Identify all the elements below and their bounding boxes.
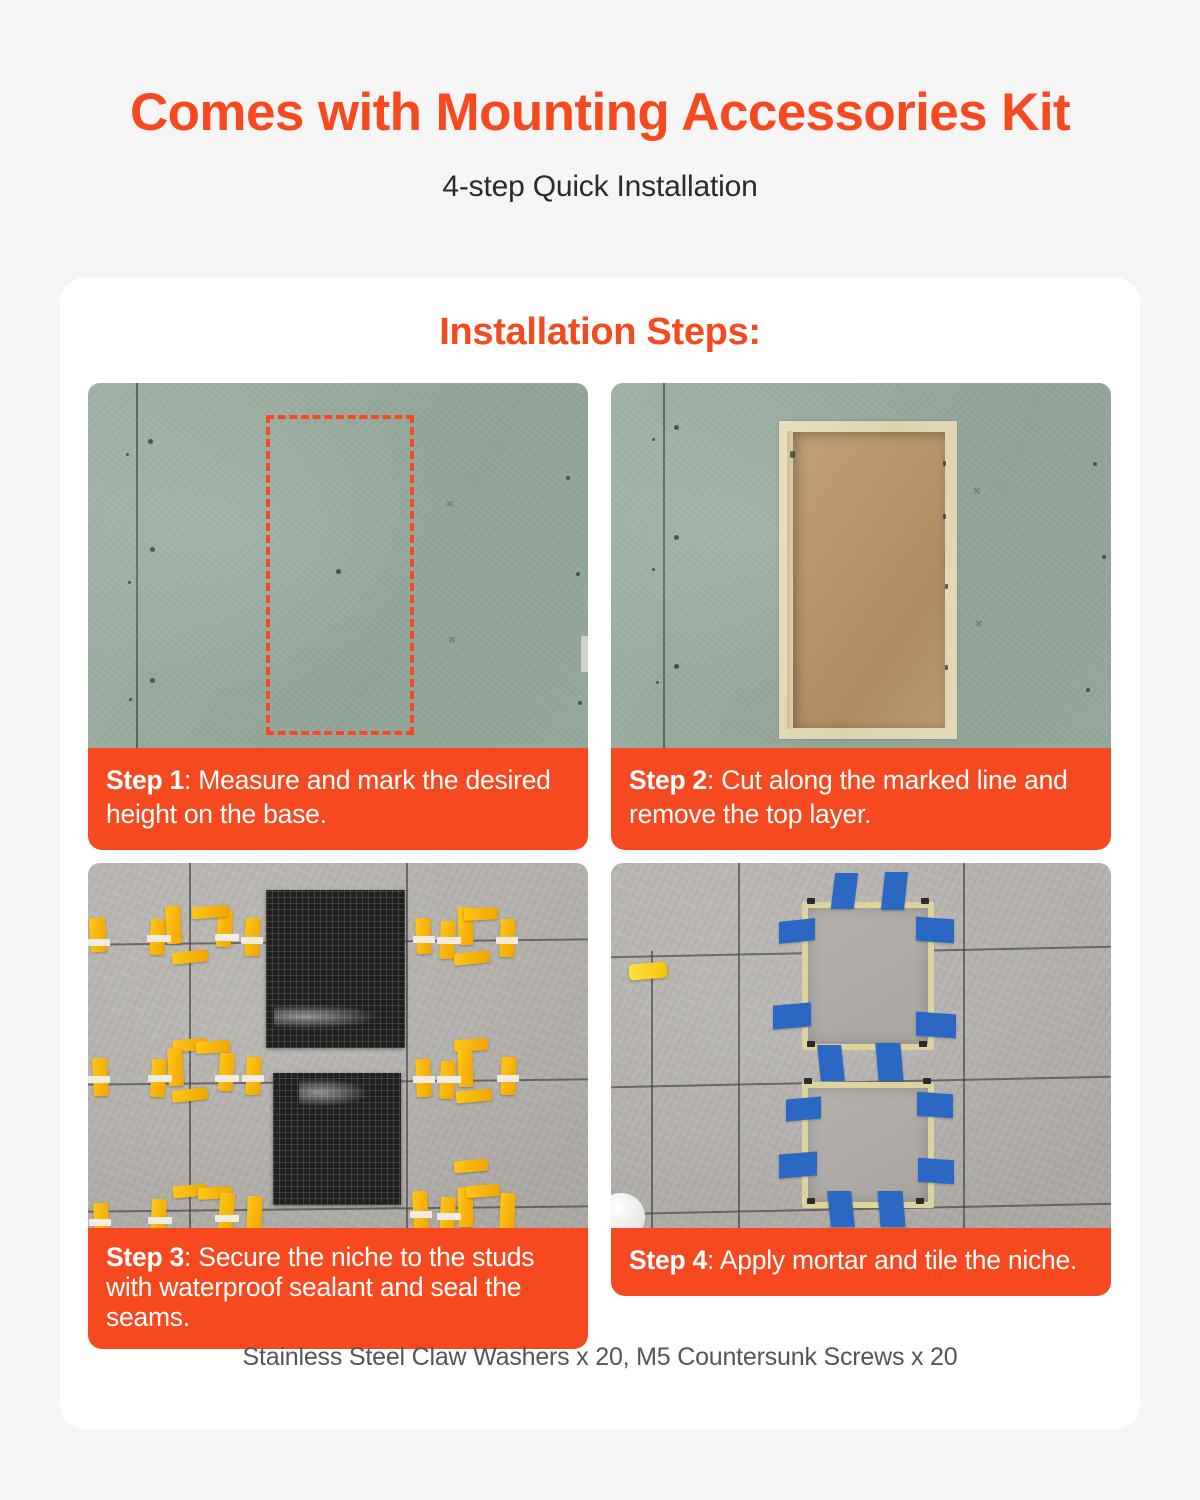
painters-tape-strip bbox=[779, 918, 815, 944]
step-3-photo bbox=[88, 863, 588, 1243]
niche-corner-bracket bbox=[923, 1078, 931, 1084]
screw-head-icon bbox=[1093, 462, 1097, 466]
screw-head-icon bbox=[566, 476, 570, 480]
tile-leveling-clip bbox=[437, 1076, 461, 1083]
screw-head-icon bbox=[945, 584, 948, 589]
measurement-marking-outline bbox=[266, 415, 414, 735]
screw-head-icon bbox=[148, 439, 153, 444]
painters-tape-strip bbox=[827, 1191, 855, 1227]
tile-leveling-wedge bbox=[89, 917, 107, 952]
tile-leveling-clip bbox=[148, 1217, 172, 1224]
tile-leveling-clip bbox=[437, 1213, 461, 1220]
tile-leveling-wedge bbox=[466, 1184, 501, 1198]
niche-corner-bracket bbox=[804, 1078, 812, 1084]
niche-corner-bracket bbox=[919, 1041, 927, 1047]
steps-grid: × × Step 1: Measure and mark the desired… bbox=[88, 383, 1112, 1338]
screw-head-icon bbox=[656, 681, 659, 684]
painters-tape-strip bbox=[779, 1151, 817, 1178]
screw-head-icon bbox=[674, 664, 679, 669]
tile-leveling-wedge bbox=[192, 905, 229, 919]
accessories-note: Stainless Steel Claw Washers x 20, M5 Co… bbox=[60, 1343, 1140, 1372]
step-tile-2: × × Step 2: Cut along the marked line an… bbox=[611, 383, 1111, 858]
tile-leveling-clip bbox=[437, 937, 461, 944]
painters-tape-strip bbox=[916, 1012, 956, 1039]
step-2-caption: Step 2: Cut along the marked line and re… bbox=[611, 748, 1111, 850]
tile-leveling-clip bbox=[497, 1075, 519, 1082]
step-1-caption: Step 1: Measure and mark the desired hei… bbox=[88, 748, 588, 850]
painters-tape-strip bbox=[877, 1191, 905, 1227]
drywall-seam bbox=[136, 383, 138, 763]
screw-head-icon bbox=[1102, 555, 1106, 559]
painters-tape-strip bbox=[831, 873, 858, 909]
niche-corner-bracket bbox=[921, 898, 929, 904]
header: Comes with Mounting Accessories Kit 4-st… bbox=[0, 0, 1200, 204]
tile-leveling-clip bbox=[241, 937, 263, 944]
step-1-label: Step 1 bbox=[106, 765, 184, 795]
grout-line bbox=[406, 863, 408, 1243]
tile-leveling-wedge bbox=[464, 907, 499, 921]
step-4-photo bbox=[611, 863, 1111, 1243]
step-3-caption: Step 3: Secure the niche to the studs wi… bbox=[88, 1228, 588, 1349]
pencil-mark-x-icon: × bbox=[446, 496, 454, 511]
product-infographic-page: Comes with Mounting Accessories Kit 4-st… bbox=[0, 0, 1200, 1500]
tile-leveling-clip bbox=[88, 1076, 110, 1083]
screw-head-icon bbox=[945, 665, 948, 670]
screw-head-icon bbox=[128, 581, 131, 584]
pencil-mark-x-icon: × bbox=[448, 632, 456, 647]
step-4-label: Step 4 bbox=[629, 1245, 707, 1275]
step-tile-3: Step 3: Secure the niche to the studs wi… bbox=[88, 863, 588, 1338]
tile-leveling-clip bbox=[88, 939, 110, 946]
painters-tape-strip bbox=[817, 1045, 845, 1081]
step-tile-1: × × Step 1: Measure and mark the desired… bbox=[88, 383, 588, 858]
screw-head-icon bbox=[150, 678, 155, 683]
painters-tape-strip bbox=[875, 1043, 903, 1081]
niche-corner-bracket bbox=[916, 1198, 924, 1204]
screw-head-icon bbox=[943, 461, 946, 466]
tile-leveling-clip bbox=[215, 934, 239, 941]
painters-tape-strip bbox=[917, 1092, 953, 1119]
tile-leveling-clip bbox=[496, 937, 518, 944]
niche-mesh-panel-lower bbox=[273, 1073, 401, 1205]
screw-head-icon bbox=[1086, 688, 1090, 692]
pencil-mark-x-icon: × bbox=[975, 616, 983, 631]
screw-head-icon bbox=[674, 535, 679, 540]
grout-line bbox=[738, 863, 740, 1243]
screw-head-icon bbox=[126, 453, 129, 456]
screw-head-icon bbox=[674, 425, 679, 430]
tile-leveling-wedge bbox=[218, 1053, 236, 1092]
grout-sponge bbox=[628, 961, 667, 980]
screw-head-icon bbox=[576, 572, 580, 576]
niche-corner-bracket bbox=[807, 898, 815, 904]
tile-leveling-clip bbox=[413, 1076, 435, 1083]
tile-leveling-wedge bbox=[196, 1040, 231, 1054]
step-2-photo: × × bbox=[611, 383, 1111, 763]
tile-leveling-clip bbox=[215, 1215, 239, 1222]
pencil-mark-x-icon: × bbox=[973, 483, 981, 498]
wall-fitting bbox=[581, 636, 588, 672]
section-title: Installation Steps: bbox=[60, 277, 1140, 354]
tile-leveling-clip bbox=[147, 935, 171, 942]
step-1-photo: × × bbox=[88, 383, 588, 763]
screw-head-icon bbox=[129, 698, 132, 701]
step-4-text: Apply mortar and tile the niche. bbox=[714, 1245, 1077, 1275]
tile-leveling-clip bbox=[148, 1075, 172, 1082]
tile-leveling-clip bbox=[89, 1219, 111, 1226]
tile-leveling-clip bbox=[242, 1075, 264, 1082]
page-subtitle: 4-step Quick Installation bbox=[0, 170, 1200, 204]
step-3-label: Step 3 bbox=[106, 1242, 184, 1272]
screw-head-icon bbox=[652, 568, 655, 571]
step-2-label: Step 2 bbox=[629, 765, 707, 795]
grout-line bbox=[651, 951, 653, 1243]
drywall-seam bbox=[663, 383, 665, 763]
step-tile-4: Step 4: Apply mortar and tile the niche. bbox=[611, 863, 1111, 1338]
installation-steps-card: Installation Steps: × bbox=[60, 277, 1140, 1429]
painters-tape-strip bbox=[916, 917, 954, 944]
niche-corner-bracket bbox=[807, 1198, 815, 1204]
exposed-stud-cavity bbox=[793, 432, 945, 728]
step-4-caption: Step 4: Apply mortar and tile the niche. bbox=[611, 1228, 1111, 1296]
cut-opening bbox=[779, 421, 957, 739]
painters-tape-strip bbox=[786, 1096, 821, 1121]
niche-mesh-panel-upper bbox=[266, 890, 405, 1048]
tiled-niche-upper bbox=[802, 902, 934, 1050]
grout-line bbox=[963, 863, 965, 1243]
page-title: Comes with Mounting Accessories Kit bbox=[0, 86, 1200, 140]
painters-tape-strip bbox=[773, 1002, 811, 1029]
tiled-niche-lower bbox=[802, 1082, 934, 1208]
tile-leveling-clip bbox=[410, 1211, 432, 1218]
painters-tape-strip bbox=[881, 872, 908, 910]
tile-leveling-clip bbox=[215, 1075, 239, 1082]
screw-head-icon bbox=[943, 514, 946, 519]
screw-head-icon bbox=[150, 547, 155, 552]
screw-head-icon bbox=[790, 451, 795, 458]
tile-leveling-clip bbox=[413, 936, 435, 943]
niche-corner-bracket bbox=[807, 1041, 815, 1047]
screw-head-icon bbox=[652, 438, 655, 441]
screw-head-icon bbox=[578, 701, 582, 705]
painters-tape-strip bbox=[918, 1158, 954, 1185]
